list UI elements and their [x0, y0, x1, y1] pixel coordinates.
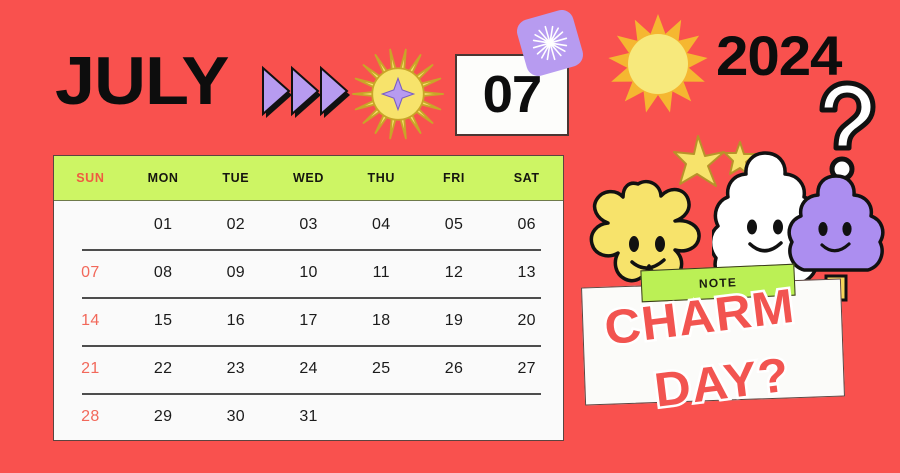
day-cell-27[interactable]: 27: [490, 345, 563, 393]
day-cell-empty: [54, 201, 127, 249]
page-title: JULY: [55, 47, 228, 115]
day-cell-15[interactable]: 15: [127, 297, 200, 345]
weekday-header-tue: TUE: [199, 156, 272, 200]
day-cell-18[interactable]: 18: [345, 297, 418, 345]
calendar-week-row: 28293031: [54, 393, 563, 441]
day-cell-02[interactable]: 02: [199, 201, 272, 249]
day-cell-25[interactable]: 25: [345, 345, 418, 393]
starburst-sun-icon: [352, 48, 444, 140]
day-cell-empty: [418, 393, 491, 441]
day-cell-22[interactable]: 22: [127, 345, 200, 393]
day-cell-23[interactable]: 23: [199, 345, 272, 393]
day-cell-10[interactable]: 10: [272, 249, 345, 297]
day-cell-14[interactable]: 14: [54, 297, 127, 345]
day-cell-08[interactable]: 08: [127, 249, 200, 297]
weekday-header-wed: WED: [272, 156, 345, 200]
day-cell-21[interactable]: 21: [54, 345, 127, 393]
sun-icon: [606, 12, 710, 116]
question-mark-icon: [806, 78, 886, 186]
day-cell-06[interactable]: 06: [490, 201, 563, 249]
day-cell-05[interactable]: 05: [418, 201, 491, 249]
calendar-week-row: 14151617181920: [54, 297, 563, 345]
triple-chevron-right-icon: [258, 62, 350, 124]
day-cell-20[interactable]: 20: [490, 297, 563, 345]
day-cell-16[interactable]: 16: [199, 297, 272, 345]
calendar-table: SUNMONTUEWEDTHUFRISAT 010203040506070809…: [53, 155, 564, 441]
day-cell-26[interactable]: 26: [418, 345, 491, 393]
weekday-header-sun: SUN: [54, 156, 127, 200]
calendar-week-row: 21222324252627: [54, 345, 563, 393]
day-cell-30[interactable]: 30: [199, 393, 272, 441]
calendar-weekday-header: SUNMONTUEWEDTHUFRISAT: [54, 156, 563, 201]
calendar-week-row: 010203040506: [54, 201, 563, 249]
year-label: 2024: [716, 28, 841, 84]
day-cell-17[interactable]: 17: [272, 297, 345, 345]
day-cell-empty: [345, 393, 418, 441]
day-cell-empty: [490, 393, 563, 441]
day-cell-01[interactable]: 01: [127, 201, 200, 249]
day-cell-03[interactable]: 03: [272, 201, 345, 249]
day-cell-24[interactable]: 24: [272, 345, 345, 393]
calendar-week-row: 07080910111213: [54, 249, 563, 297]
weekday-header-thu: THU: [345, 156, 418, 200]
day-cell-12[interactable]: 12: [418, 249, 491, 297]
weekday-header-mon: MON: [127, 156, 200, 200]
day-cell-29[interactable]: 29: [127, 393, 200, 441]
calendar-poster: JULY 07: [0, 0, 900, 473]
calendar-body: 0102030405060708091011121314151617181920…: [54, 201, 563, 441]
day-cell-13[interactable]: 13: [490, 249, 563, 297]
day-cell-31[interactable]: 31: [272, 393, 345, 441]
day-cell-11[interactable]: 11: [345, 249, 418, 297]
weekday-header-fri: FRI: [418, 156, 491, 200]
weekday-header-sat: SAT: [490, 156, 563, 200]
day-cell-28[interactable]: 28: [54, 393, 127, 441]
day-cell-07[interactable]: 07: [54, 249, 127, 297]
day-cell-09[interactable]: 09: [199, 249, 272, 297]
day-cell-19[interactable]: 19: [418, 297, 491, 345]
day-cell-04[interactable]: 04: [345, 201, 418, 249]
